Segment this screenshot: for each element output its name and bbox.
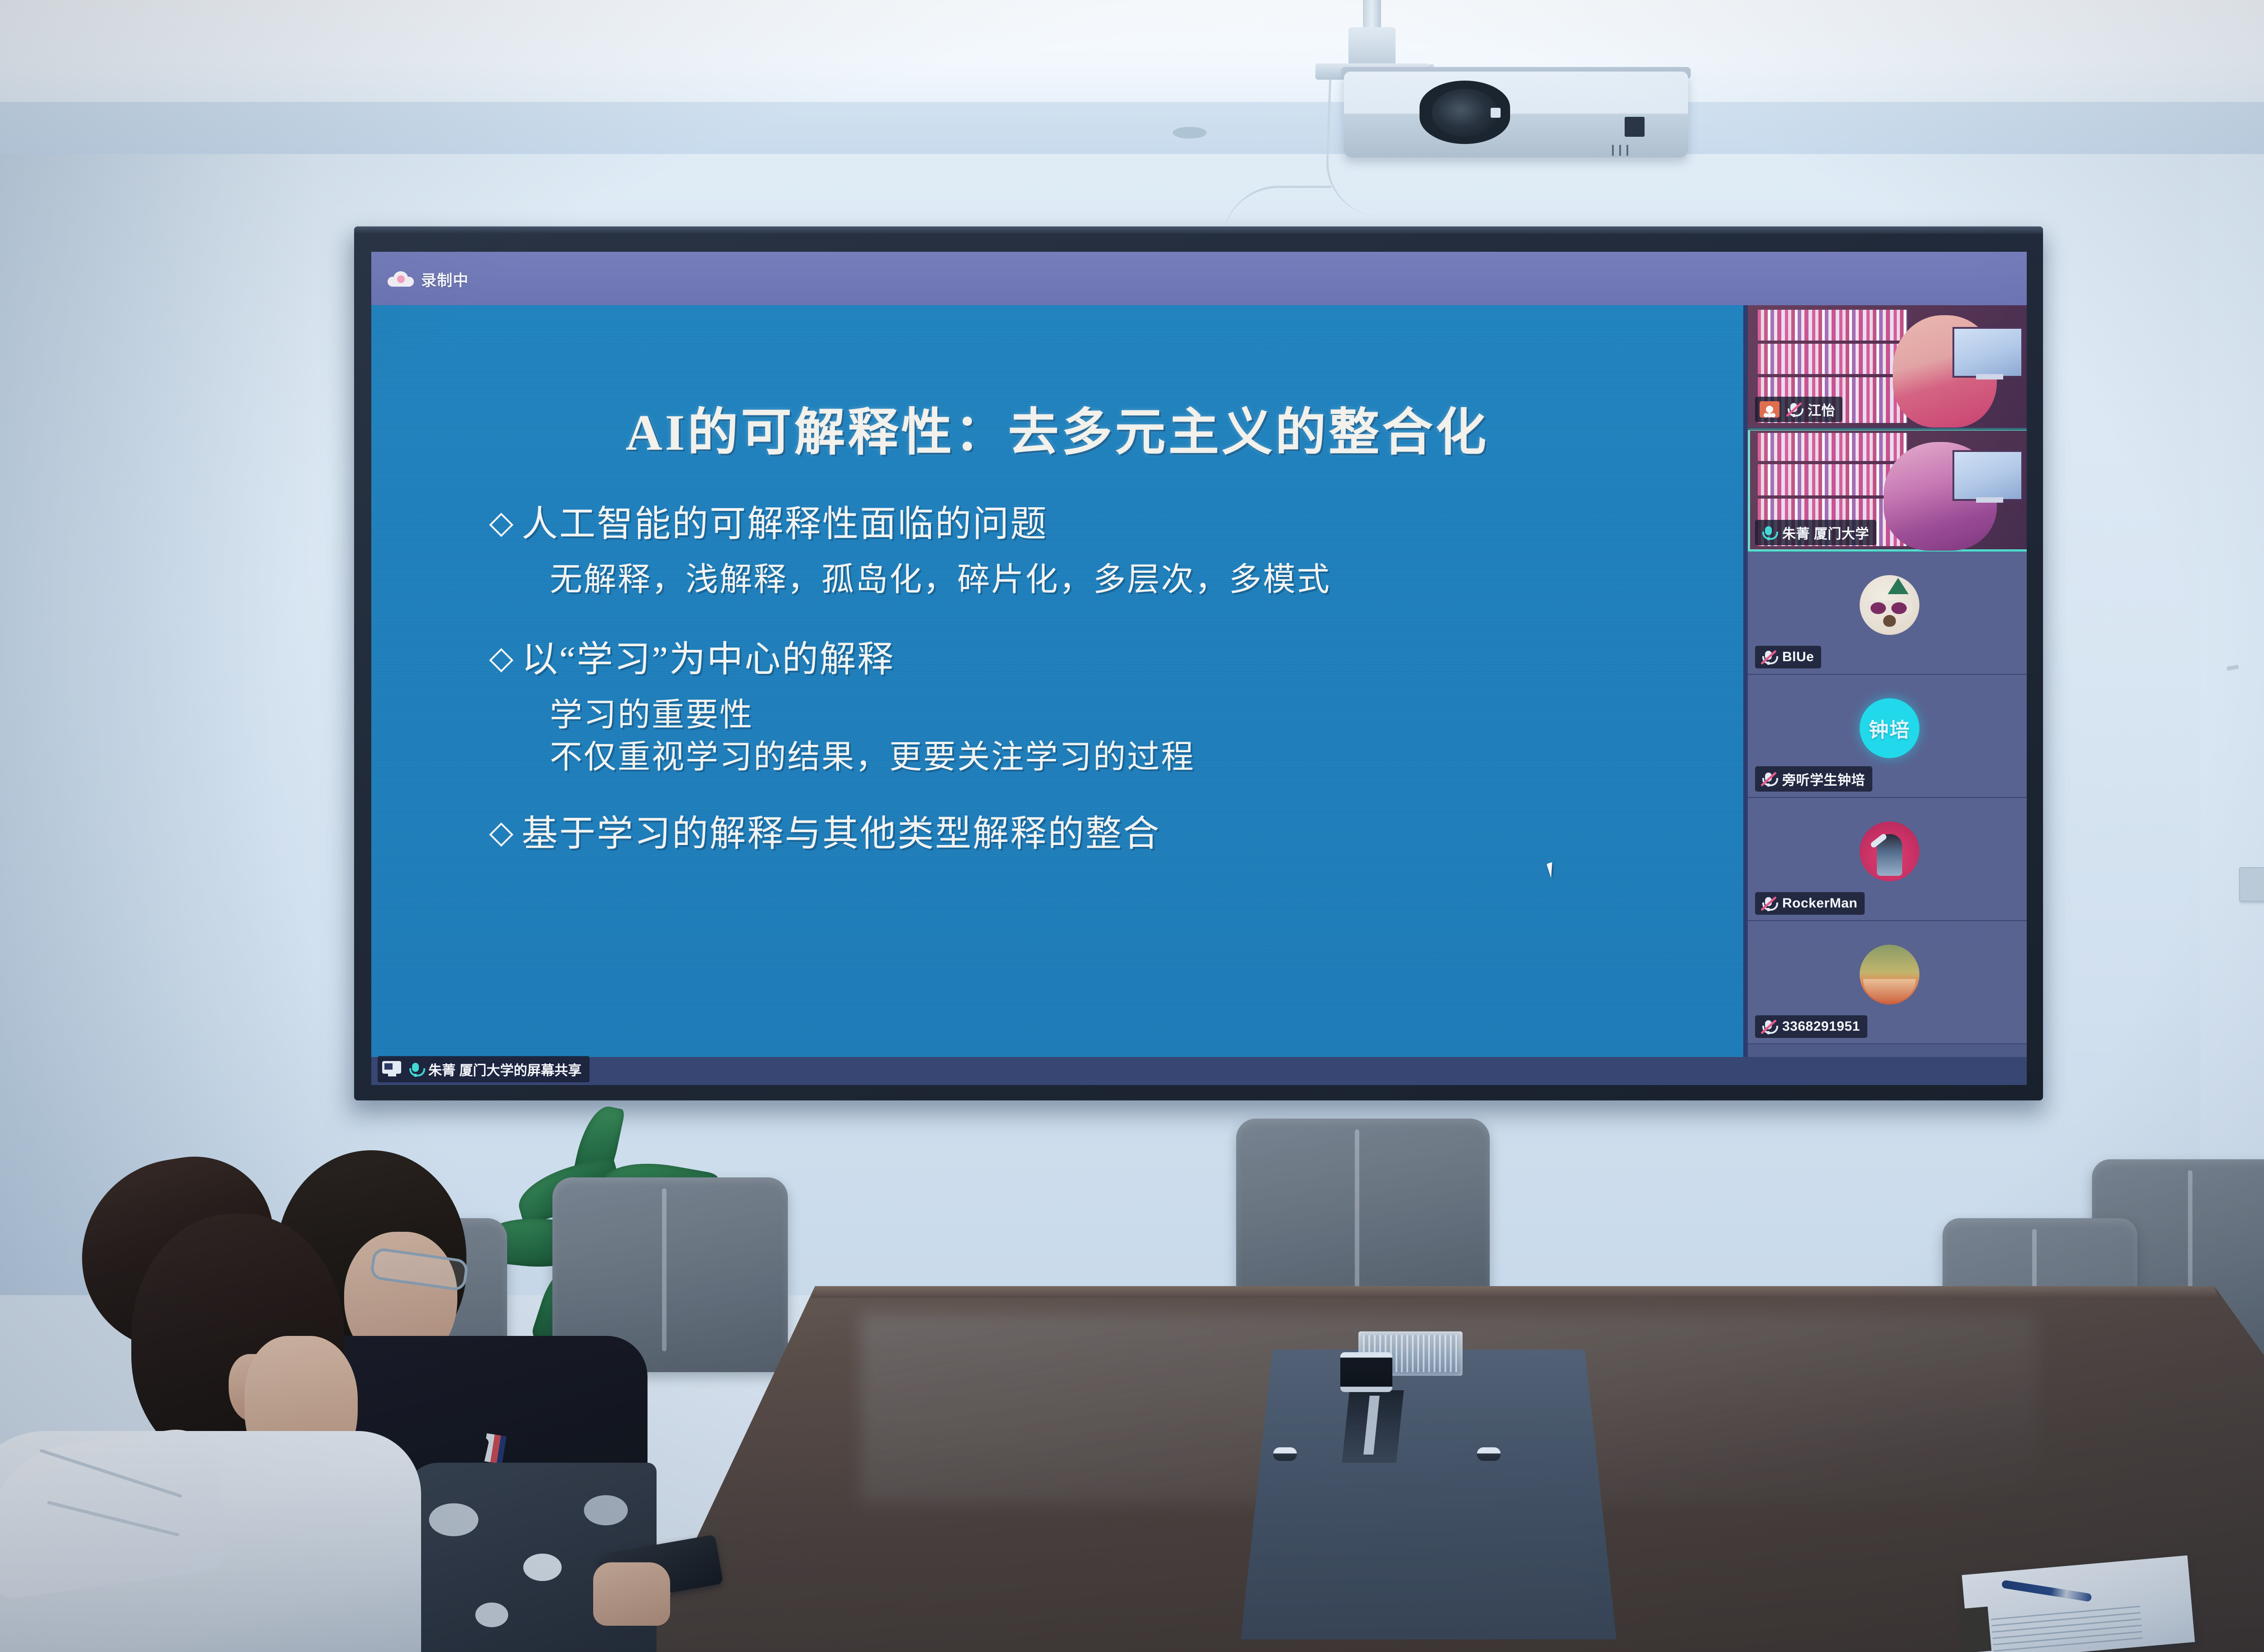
shared-slide: AI的可解释性：去多元主义的整合化 人工智能的可解释性面临的问题 无解释，浅解释…	[371, 305, 1743, 1057]
microphone-on-icon	[1760, 524, 1777, 541]
participant-tile-zhujing[interactable]: 正在讲话: 朱菁 厦门大学; 朱菁 厦门大学	[1748, 428, 2027, 552]
display-screen[interactable]: 录制中 AI的可解释性：去多元主义的整合化 人工智能的可解释性面临的问题 无解释…	[371, 252, 2027, 1085]
projector-mount-head	[1348, 27, 1396, 66]
slide-bullet-1: 人工智能的可解释性面临的问题	[493, 504, 1715, 545]
attendee-white-jacket	[0, 1159, 435, 1652]
participant-name: 3368291951	[1782, 1019, 1860, 1034]
participant-name: 朱菁 厦门大学	[1782, 523, 1869, 543]
notebook-spine	[1961, 1607, 1991, 1652]
participant-nametag: BlUe	[1755, 646, 1821, 668]
speaking-banner: 正在讲话: 朱菁 厦门大学;	[1748, 428, 2027, 430]
right-wall-panel	[2201, 154, 2264, 1295]
slide-bullet-list: 人工智能的可解释性面临的问题 无解释，浅解释，孤岛化，碎片化，多层次，多模式 以…	[493, 504, 1715, 855]
projector-lens-icon	[1432, 89, 1498, 137]
participant-tile-blue[interactable]: BlUe	[1748, 552, 2027, 675]
slide-title: AI的可解释性：去多元主义的整合化	[371, 391, 1743, 465]
cloud-record-icon	[388, 271, 414, 287]
participant-tile-rockerman[interactable]: RockerMan	[1748, 798, 2027, 921]
dog-sunglasses-avatar	[1860, 575, 1919, 635]
diamond-bullet-icon	[489, 513, 513, 537]
participant-name: 江怡	[1808, 399, 1835, 419]
microphone-muted-icon	[1760, 895, 1777, 912]
diamond-bullet-icon	[489, 648, 513, 672]
ceiling-soffit	[0, 102, 2264, 158]
chair-center[interactable]	[1236, 1119, 1490, 1309]
record-dot-icon	[397, 275, 405, 283]
screen-share-label: 朱菁 厦门大学的屏幕共享	[428, 1059, 581, 1079]
participant-nametag: 旁听学生钟培	[1755, 766, 1872, 792]
microphone-on-icon	[407, 1061, 424, 1078]
microphone-muted-icon	[1760, 770, 1777, 788]
ceiling	[0, 0, 2264, 113]
slide-bullet-1-sub-1: 无解释，浅解释，孤岛化，碎片化，多层次，多模式	[550, 559, 1715, 601]
table-port-right[interactable]	[1477, 1447, 1501, 1461]
participant-nametag: 3368291951	[1755, 1015, 1867, 1038]
slide-bullet-2: 以“学习”为中心的解释	[493, 640, 1715, 681]
table-cable-inset	[1241, 1349, 1616, 1639]
table-port-left[interactable]	[1273, 1447, 1297, 1461]
table-microphone[interactable]	[1340, 1352, 1392, 1392]
participant-tile-3368291951[interactable]: 3368291951	[1748, 921, 2027, 1044]
projector-ir-sensor	[1625, 117, 1645, 137]
participant-name: 旁听学生钟培	[1782, 769, 1865, 789]
participant-nametag: 江怡	[1755, 397, 1842, 422]
slide-bullet-2-text: 以“学习”为中心的解释	[522, 640, 895, 681]
slide-bullet-3-text: 基于学习的解释与其他类型解释的整合	[522, 814, 1161, 855]
participant-panel[interactable]: 江怡 正在讲话: 朱菁 厦门大学; 朱菁 厦门大学	[1743, 305, 2027, 1057]
slide-bullet-3: 基于学习的解释与其他类型解释的整合	[493, 814, 1715, 855]
participant-nametag: RockerMan	[1755, 892, 1865, 915]
projector-lens-marker	[1491, 108, 1501, 118]
initials-avatar: 钟培	[1860, 698, 1919, 758]
ceiling-vent	[1173, 127, 1207, 139]
slide-bullet-2-sub-1: 学习的重要性	[550, 694, 1715, 737]
wall-shadow	[0, 154, 317, 1295]
display-bezel-highlight	[354, 226, 2043, 234]
screen-share-icon	[382, 1061, 402, 1077]
table-edge	[643, 1286, 2264, 1298]
diamond-bullet-icon	[489, 822, 513, 847]
participant-name: RockerMan	[1782, 896, 1857, 911]
microphone-muted-icon	[1785, 401, 1802, 418]
light-switch[interactable]	[2239, 867, 2264, 902]
avatar-initials: 钟培	[1869, 714, 1910, 743]
recording-label: 录制中	[421, 268, 469, 290]
screen-share-chip: 朱菁 厦门大学的屏幕共享	[378, 1056, 590, 1082]
food-photo-avatar	[1860, 945, 1919, 1004]
participant-tile-zhongpei[interactable]: 钟培 旁听学生钟培	[1748, 675, 2027, 798]
ceiling-projector	[1344, 72, 1688, 158]
participant-tile-jiangyi[interactable]: 江怡	[1748, 305, 2027, 428]
slide-bullet-1-text: 人工智能的可解释性面临的问题	[522, 504, 1048, 545]
screen-share-bar: 朱菁 厦门大学的屏幕共享	[371, 1057, 2027, 1085]
recording-indicator: 录制中	[388, 268, 469, 290]
attendee-glasses-hand	[593, 1562, 670, 1626]
participant-name: BlUe	[1782, 649, 1814, 665]
host-badge-icon	[1760, 401, 1780, 418]
participant-nametag: 朱菁 厦门大学	[1755, 520, 1876, 545]
conference-room-scene: 录制中 AI的可解释性：去多元主义的整合化 人工智能的可解释性面临的问题 无解释…	[0, 0, 2264, 1652]
slide-bullet-2-sub-2: 不仅重视学习的结果，更要关注学习的过程	[550, 736, 1715, 779]
photo-avatar	[1860, 821, 1919, 881]
meeting-top-band: 录制中	[371, 252, 2027, 305]
microphone-muted-icon	[1760, 648, 1777, 666]
microphone-muted-icon	[1760, 1018, 1777, 1035]
projector-vent	[1612, 145, 1633, 156]
